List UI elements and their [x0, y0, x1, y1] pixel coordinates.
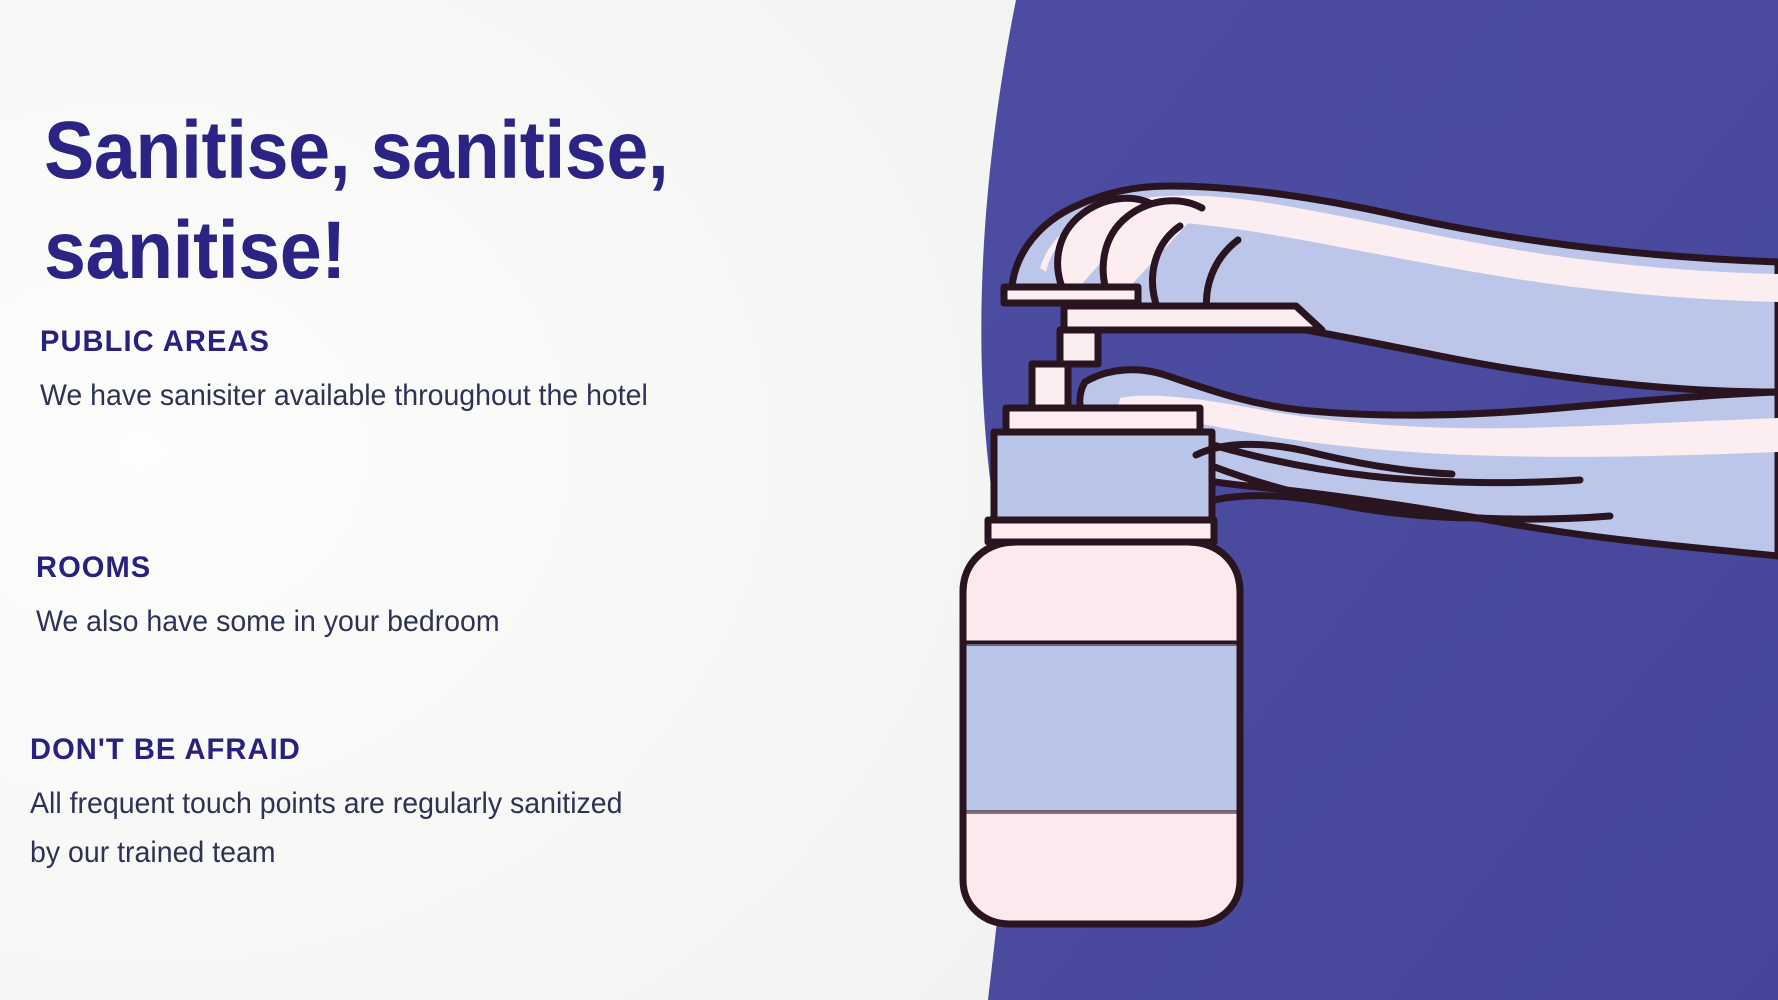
section-body-dont-be-afraid: All frequent touch points are regularly … — [30, 780, 657, 877]
text-column: Sanitise, sanitise, sanitise! PUBLIC ARE… — [38, 0, 868, 1000]
section-dont-be-afraid: DON'T BE AFRAID All frequent touch point… — [30, 733, 830, 877]
section-heading-public-areas: PUBLIC AREAS — [40, 325, 816, 358]
section-heading-rooms: ROOMS — [36, 551, 812, 584]
section-body-rooms: We also have some in your bedroom — [36, 598, 663, 647]
page-title: Sanitise, sanitise, sanitise! — [44, 101, 798, 301]
section-rooms: ROOMS We also have some in your bedroom — [36, 551, 836, 647]
section-body-public-areas: We have sanisiter available throughout t… — [40, 372, 667, 421]
poster-root: Sanitise, sanitise, sanitise! PUBLIC ARE… — [0, 0, 1778, 1000]
section-heading-dont-be-afraid: DON'T BE AFRAID — [30, 733, 806, 766]
section-public-areas: PUBLIC AREAS We have sanisiter available… — [40, 325, 840, 421]
